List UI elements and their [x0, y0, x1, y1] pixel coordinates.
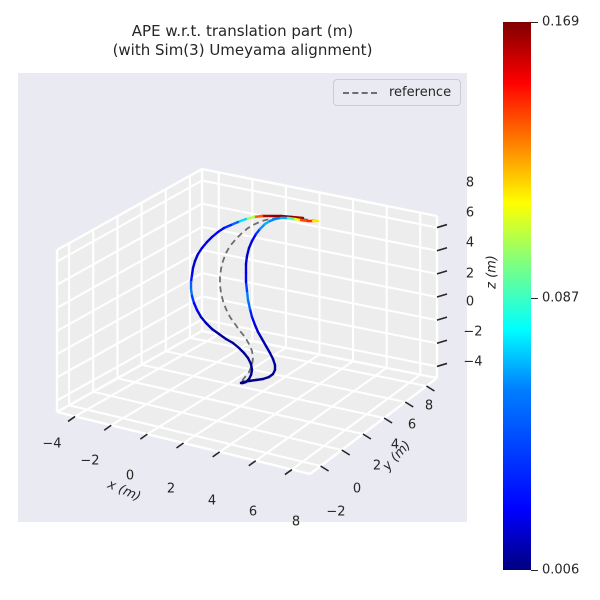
tick-label-y-0: −2 [326, 505, 345, 520]
legend-label-reference: reference [389, 85, 451, 100]
tick-label-x-0: −4 [42, 437, 61, 452]
tick-label-z-3: 2 [466, 267, 474, 282]
tick-label-z-6: −4 [463, 355, 482, 370]
tick-label-x-6: 8 [292, 515, 300, 530]
colorbar-tickmark-0 [531, 22, 538, 23]
tick-label-x-3: 2 [167, 482, 175, 497]
colorbar-tick-label-2: 0.006 [542, 563, 579, 578]
tick-label-y-2: 2 [373, 459, 381, 474]
tick-label-z-2: 4 [466, 236, 474, 251]
axis-label-z: z (m) [485, 255, 500, 289]
tick-label-x-1: −2 [80, 454, 99, 469]
colorbar[interactable] [503, 22, 531, 570]
figure-canvas: APE w.r.t. translation part (m) (with Si… [0, 0, 600, 600]
tick-label-y-1: 0 [353, 482, 361, 497]
tick-label-z-1: 6 [466, 206, 474, 221]
tick-label-x-4: 4 [208, 494, 216, 509]
colorbar-tickmark-2 [531, 570, 538, 571]
tick-label-z-0: 8 [466, 176, 474, 191]
tick-label-y-4: 6 [408, 418, 416, 433]
legend-dashed-line-icon [343, 92, 377, 94]
tick-label-x-2: 0 [126, 469, 134, 484]
colorbar-tickmark-1 [531, 298, 538, 299]
tick-label-y-5: 8 [425, 399, 433, 414]
tick-label-x-5: 6 [249, 505, 257, 520]
legend-box[interactable]: reference [333, 79, 461, 106]
colorbar-tick-label-0: 0.169 [542, 15, 579, 30]
tick-label-z-5: −2 [463, 325, 482, 340]
colorbar-tick-label-1: 0.087 [542, 290, 579, 305]
tick-label-z-4: 0 [466, 295, 474, 310]
